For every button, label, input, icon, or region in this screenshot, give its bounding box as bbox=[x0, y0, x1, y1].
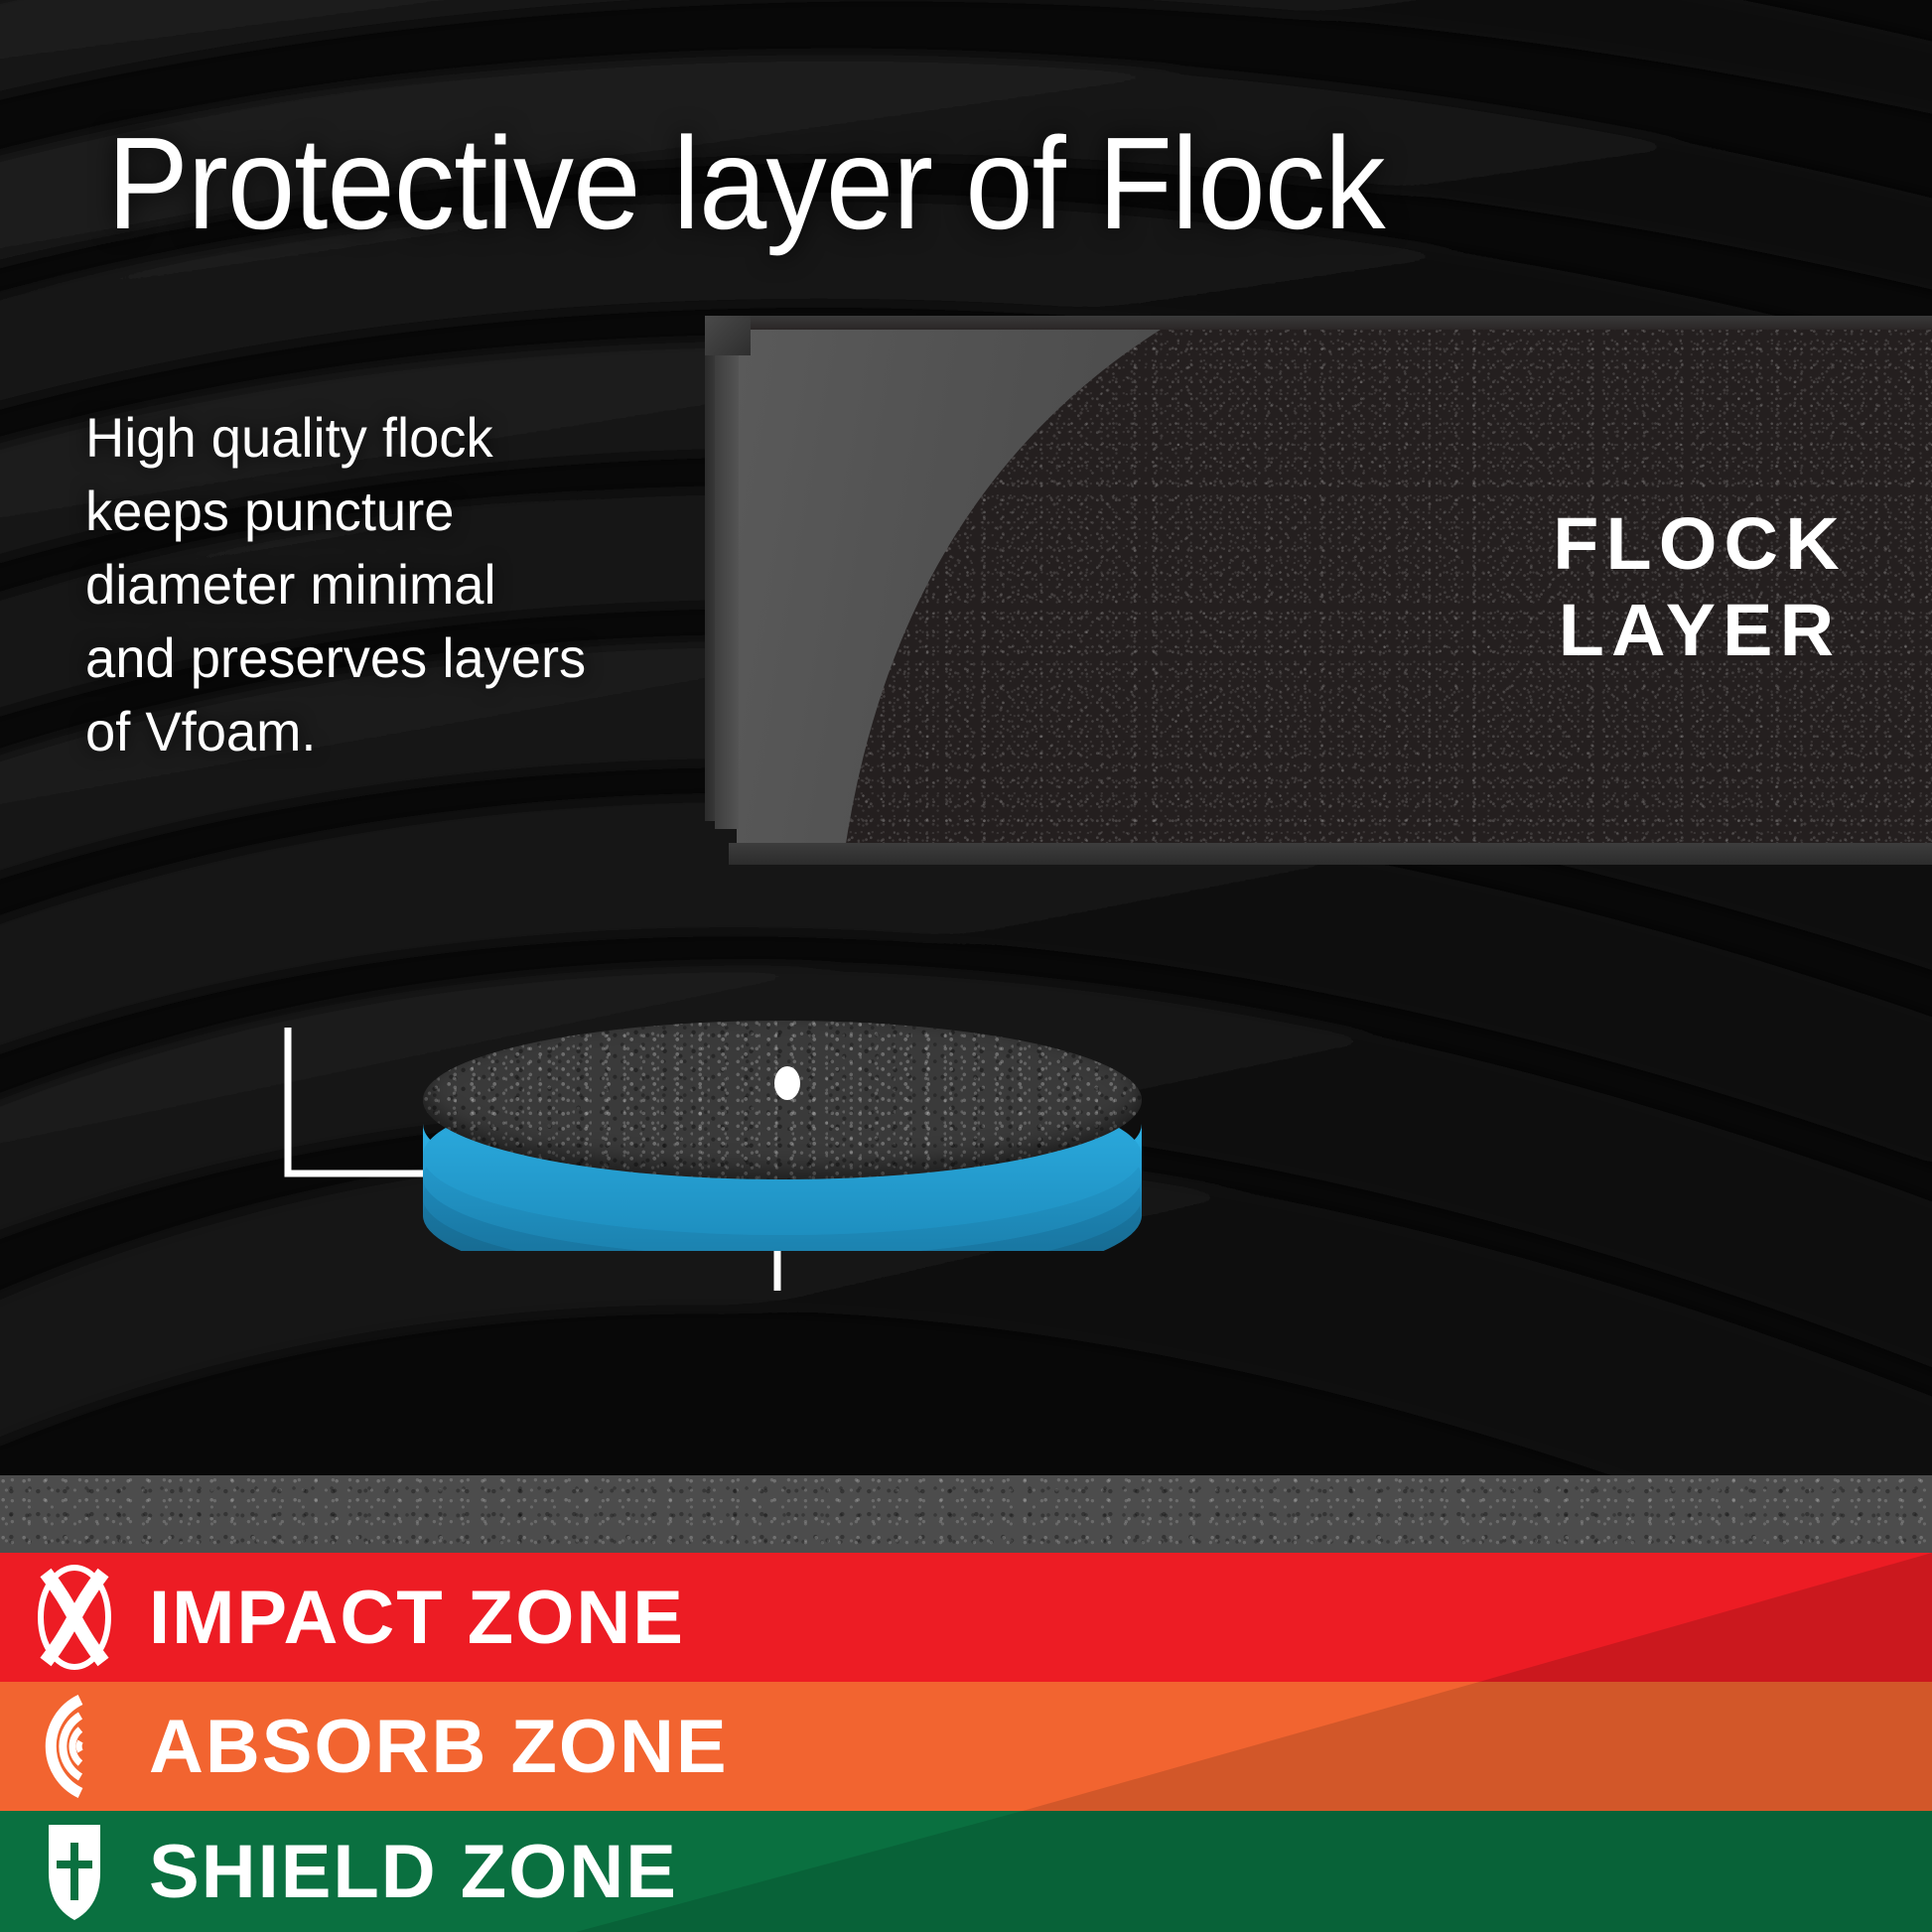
foam-ground-strip bbox=[0, 1475, 1932, 1555]
shield-cross-glyph bbox=[39, 1819, 110, 1924]
foam-block-corner bbox=[705, 316, 751, 355]
page-title: Protective layer of Flock bbox=[107, 117, 1385, 251]
foam-block-bottom-edge bbox=[729, 843, 1932, 865]
infographic-canvas: Protective layer of Flock High quality f… bbox=[0, 0, 1932, 1932]
flock-layer-label-line1: FLOCK bbox=[1553, 500, 1847, 587]
foam-block-side-bevel bbox=[715, 338, 739, 829]
shield-cross-icon bbox=[0, 1811, 149, 1932]
sound-waves-icon bbox=[0, 1682, 149, 1811]
flock-layer-label: FLOCK LAYER bbox=[1553, 500, 1847, 674]
zone-bar-absorb[interactable]: ABSORB ZONE bbox=[0, 1682, 1932, 1811]
callout-description: High quality flock keeps puncture diamet… bbox=[85, 401, 586, 768]
zone-label-impact: IMPACT ZONE bbox=[149, 1575, 685, 1661]
flock-layer-label-line2: LAYER bbox=[1553, 587, 1847, 673]
zone-label-absorb: ABSORB ZONE bbox=[149, 1704, 729, 1790]
zone-bar-impact[interactable]: IMPACT ZONE bbox=[0, 1553, 1932, 1682]
flock-foam-block: FLOCK LAYER bbox=[701, 316, 1932, 865]
x-in-ellipse-glyph bbox=[32, 1563, 117, 1672]
sound-waves-glyph bbox=[35, 1692, 114, 1801]
foam-block-top-edge bbox=[737, 316, 1932, 330]
zone-label-shield: SHIELD ZONE bbox=[149, 1829, 678, 1915]
flock-surface-marker bbox=[774, 1066, 800, 1100]
disc-flock-top-surface bbox=[423, 1021, 1142, 1179]
layered-foam-disc bbox=[415, 1021, 1150, 1251]
x-in-ellipse-icon bbox=[0, 1553, 149, 1682]
zone-bar-shield[interactable]: SHIELD ZONE bbox=[0, 1811, 1932, 1932]
